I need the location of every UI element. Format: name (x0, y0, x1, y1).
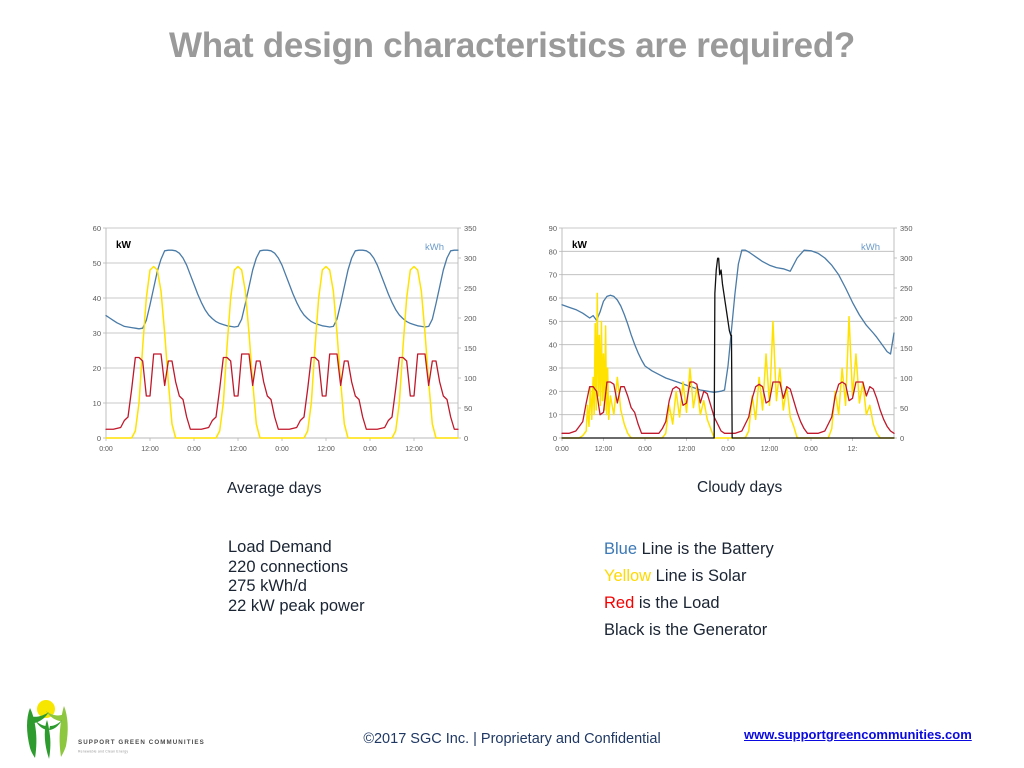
axis-unit-label-kw: kW (572, 240, 588, 251)
footer-website-link[interactable]: www.supportgreencommunities.com (744, 727, 972, 742)
y-tick-label-right: 200 (900, 314, 913, 323)
x-tick-label: 0:00 (275, 446, 289, 453)
x-tick-label: 0:00 (99, 446, 113, 453)
y-tick-label-right: 150 (464, 344, 477, 353)
y-tick-label-left: 70 (549, 271, 557, 280)
legend-row-yellow: Yellow Line is Solar (604, 563, 774, 590)
people-figures-icon (27, 706, 68, 759)
caption-cloudy-days: Cloudy days (697, 479, 782, 497)
y-tick-label-left: 10 (93, 399, 101, 408)
x-tick-label: 12:00 (595, 446, 613, 453)
x-tick-label: 12:00 (405, 446, 423, 453)
y-tick-label-right: 350 (900, 224, 913, 233)
x-tick-label: 0:00 (638, 446, 652, 453)
legend-swatch-label-black: Black (604, 621, 644, 639)
legend-text-yellow: Line is Solar (651, 567, 746, 585)
logo-tagline: Renewable and Clean Energy (78, 750, 128, 754)
y-tick-label-right: 250 (900, 284, 913, 293)
y-tick-label-right: 200 (464, 314, 477, 323)
load-demand-line-4: 22 kW peak power (228, 597, 365, 617)
x-tick-label: 12:00 (761, 446, 779, 453)
y-tick-label-left: 20 (93, 364, 101, 373)
y-tick-label-left: 20 (549, 387, 557, 396)
y-tick-label-left: 90 (549, 224, 557, 233)
y-axis-right: 050100150200250300350 (458, 224, 477, 443)
x-tick-label: 12:00 (229, 446, 247, 453)
logo-support-green-communities: SUPPORT GREEN COMMUNITIESRenewable and C… (16, 696, 206, 762)
y-tick-label-left: 40 (93, 294, 101, 303)
caption-average-days: Average days (227, 480, 322, 498)
page-title: What design characteristics are required… (0, 26, 1024, 66)
y-tick-label-left: 60 (93, 224, 101, 233)
axis-unit-label-kw: kW (116, 240, 132, 251)
x-tick-label: 12:00 (141, 446, 159, 453)
x-tick-label: 12: (848, 446, 858, 453)
logo-wordmark: SUPPORT GREEN COMMUNITIES (78, 739, 205, 746)
legend-text-black: is the Generator (644, 621, 767, 639)
y-tick-label-right: 250 (464, 284, 477, 293)
y-tick-label-left: 50 (93, 259, 101, 268)
chart-svg: 01020304050600501001502002503003500:0012… (76, 218, 496, 464)
logo-svg: SUPPORT GREEN COMMUNITIESRenewable and C… (16, 696, 206, 762)
y-tick-label-left: 30 (549, 364, 557, 373)
slide: What design characteristics are required… (0, 0, 1024, 768)
chart-cloudy-days: 0102030405060708090050100150200250300350… (532, 218, 932, 464)
chart-svg: 0102030405060708090050100150200250300350… (532, 218, 932, 464)
y-tick-label-left: 0 (97, 434, 101, 443)
y-tick-label-right: 300 (900, 254, 913, 263)
x-tick-label: 0:00 (804, 446, 818, 453)
legend-row-blue: Blue Line is the Battery (604, 536, 774, 563)
axis-unit-label-kwh: kWh (861, 242, 880, 253)
legend-block: Blue Line is the BatteryYellow Line is S… (604, 536, 774, 644)
legend-swatch-label-red: Red (604, 594, 634, 612)
x-tick-label: 0:00 (721, 446, 735, 453)
x-tick-label: 12:00 (678, 446, 696, 453)
y-axis-right: 050100150200250300350 (894, 224, 913, 443)
y-tick-label-right: 50 (900, 404, 908, 413)
x-tick-label: 0:00 (555, 446, 569, 453)
legend-swatch-label-blue: Blue (604, 540, 637, 558)
legend-text-red: is the Load (634, 594, 719, 612)
axis-unit-label-kwh: kWh (425, 242, 444, 253)
y-tick-label-right: 300 (464, 254, 477, 263)
load-demand-line-2: 220 connections (228, 558, 365, 578)
y-tick-label-right: 100 (900, 374, 913, 383)
x-axis: 0:0012:000:0012:000:0012:000:0012:00 (99, 438, 423, 453)
chart-average-days: 01020304050600501001502002503003500:0012… (76, 218, 496, 464)
load-demand-block: Load Demand 220 connections 275 kWh/d 22… (228, 538, 365, 616)
load-demand-line-3: 275 kWh/d (228, 577, 365, 597)
y-tick-label-right: 50 (464, 404, 472, 413)
y-tick-label-left: 50 (549, 317, 557, 326)
legend-row-red: Red is the Load (604, 590, 774, 617)
y-axis-left: 0102030405060 (93, 224, 106, 443)
legend-row-black: Black is the Generator (604, 617, 774, 644)
legend-swatch-label-yellow: Yellow (604, 567, 651, 585)
y-tick-label-right: 0 (464, 434, 468, 443)
y-axis-left: 0102030405060708090 (549, 224, 562, 443)
y-tick-label-left: 40 (549, 341, 557, 350)
y-tick-label-right: 150 (900, 344, 913, 353)
y-tick-label-left: 60 (549, 294, 557, 303)
y-tick-label-left: 10 (549, 411, 557, 420)
y-tick-label-right: 0 (900, 434, 904, 443)
y-tick-label-left: 30 (93, 329, 101, 338)
y-tick-label-right: 350 (464, 224, 477, 233)
x-tick-label: 12:00 (317, 446, 335, 453)
x-axis: 0:0012:000:0012:000:0012:000:0012: (555, 438, 857, 453)
y-tick-label-left: 0 (553, 434, 557, 443)
x-tick-label: 0:00 (187, 446, 201, 453)
x-tick-label: 0:00 (363, 446, 377, 453)
legend-text-blue: Line is the Battery (637, 540, 774, 558)
y-tick-label-left: 80 (549, 247, 557, 256)
y-tick-label-right: 100 (464, 374, 477, 383)
load-demand-line-1: Load Demand (228, 538, 365, 558)
